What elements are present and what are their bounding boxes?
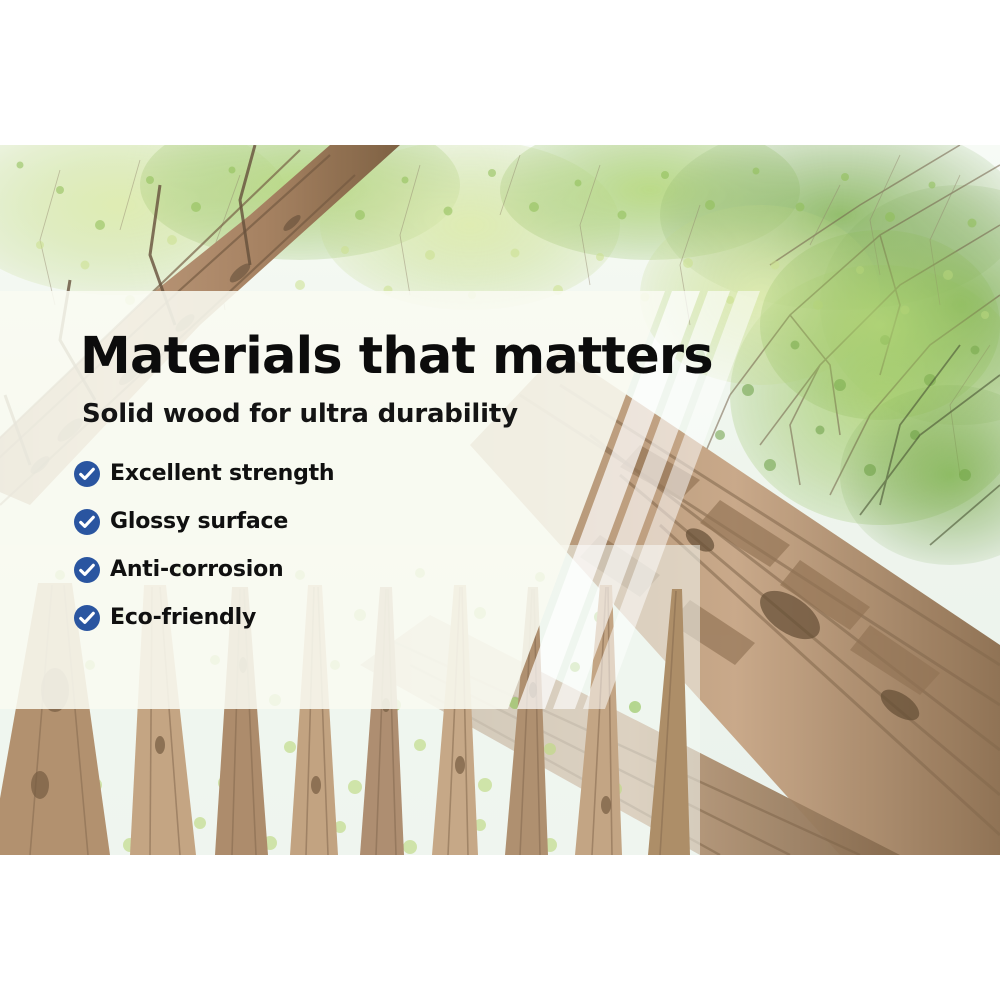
panel-content: Materials that matters Solid wood for ul… [0, 291, 660, 709]
list-item: Eco-friendly [74, 605, 334, 631]
list-item: Glossy surface [74, 509, 334, 535]
page-title: Materials that matters [80, 331, 713, 382]
check-circle-icon [74, 509, 100, 535]
list-item: Excellent strength [74, 461, 334, 487]
feature-label: Glossy surface [110, 509, 288, 535]
check-circle-icon [74, 461, 100, 487]
feature-list: Excellent strength Glossy surface Anti-c… [74, 461, 334, 631]
product-feature-banner: Materials that matters Solid wood for ul… [0, 0, 1000, 1000]
list-item: Anti-corrosion [74, 557, 334, 583]
feature-label: Excellent strength [110, 461, 334, 487]
check-circle-icon [74, 605, 100, 631]
page-subtitle: Solid wood for ultra durability [82, 401, 518, 427]
feature-label: Eco-friendly [110, 605, 256, 631]
check-circle-icon [74, 557, 100, 583]
feature-label: Anti-corrosion [110, 557, 283, 583]
